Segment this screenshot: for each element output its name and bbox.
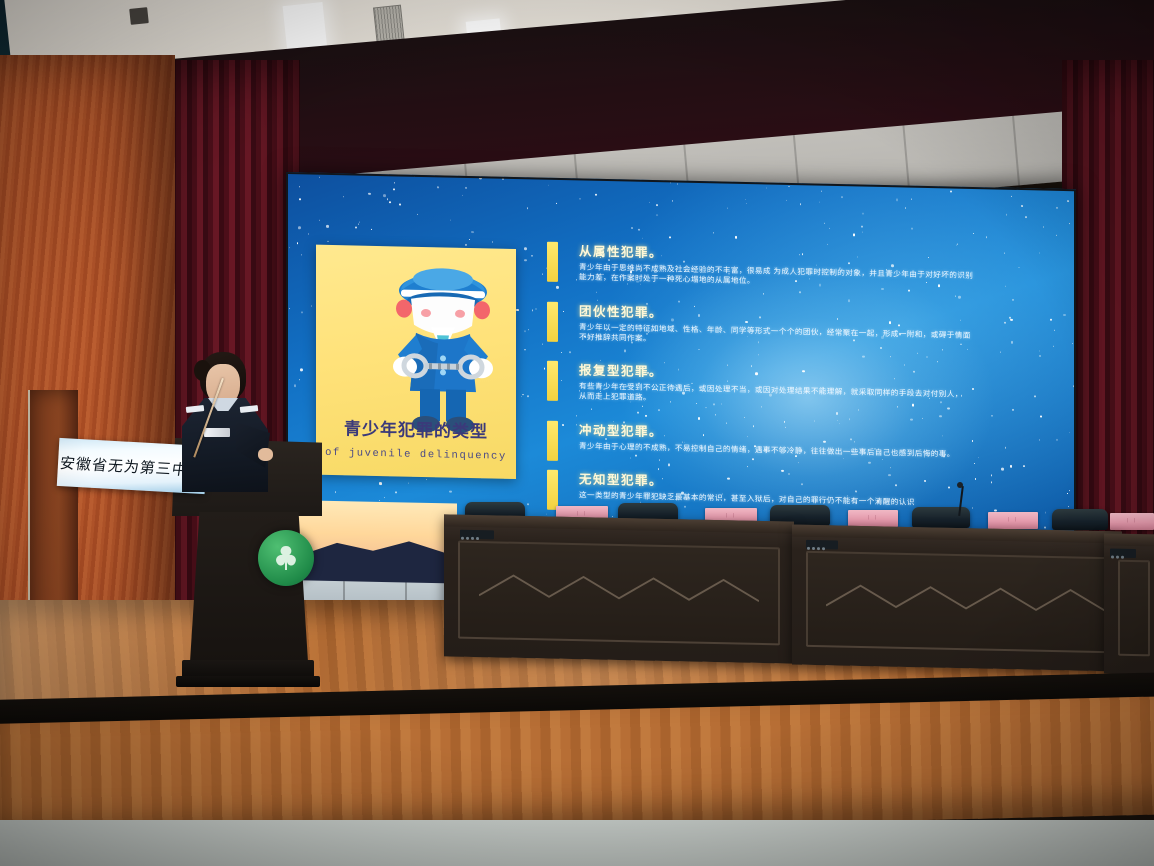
speaker-chest-badge <box>204 428 230 437</box>
screen-bezel <box>286 172 1076 534</box>
table-control-panel-3[interactable] <box>1110 548 1136 558</box>
table-zigzag-molding-2 <box>826 581 1106 615</box>
speaker-epaulet-right <box>240 405 259 413</box>
side-wall-wood <box>0 55 175 695</box>
police-officer-speaker <box>178 352 274 492</box>
podium-plinth <box>176 676 320 687</box>
nameplate-5: ｜｜ <box>1110 513 1154 530</box>
nameplate-4: ｜｜ <box>988 512 1038 529</box>
nameplate-4-text: ｜｜ <box>988 512 1038 529</box>
auditorium-photo: 青少年犯罪的类型 of juvenile delinquency 从属性犯罪。青… <box>0 0 1154 866</box>
table-lip-3 <box>1104 533 1154 546</box>
school-clover-emblem-icon <box>258 530 314 586</box>
table-mic-1-head <box>957 482 963 488</box>
table-panel-2 <box>806 551 1108 653</box>
table-control-panel-2[interactable] <box>806 540 838 550</box>
auditorium-floor <box>0 820 1154 866</box>
table-panel-1 <box>458 541 780 646</box>
table-panel-3 <box>1118 560 1150 657</box>
ceiling-speaker-1 <box>129 7 149 25</box>
clover-icon <box>268 540 304 576</box>
led-presentation-screen: 青少年犯罪的类型 of juvenile delinquency 从属性犯罪。青… <box>286 172 1076 534</box>
nameplate-3-text: ｜｜ <box>848 510 898 527</box>
table-control-panel-1[interactable] <box>460 530 494 540</box>
chair-5 <box>1052 509 1108 530</box>
table-zigzag-molding-1 <box>479 571 759 605</box>
conference-table-segment-1 <box>444 514 794 663</box>
nameplate-5-text: ｜｜ <box>1110 513 1154 530</box>
speaker-hand <box>258 448 273 461</box>
conference-table-segment-2 <box>792 525 1122 672</box>
nameplate-3: ｜｜ <box>848 510 898 527</box>
chair-4 <box>912 507 970 528</box>
conference-table-segment-3 <box>1104 533 1154 674</box>
